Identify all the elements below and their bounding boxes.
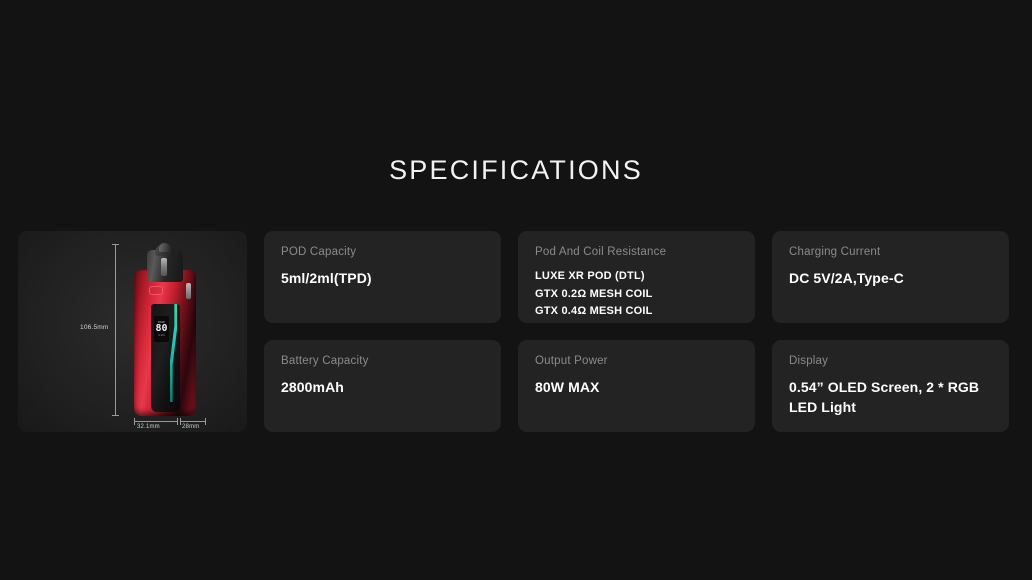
device-coil — [161, 258, 167, 276]
depth-dimension-line — [180, 421, 206, 422]
spec-value: 2800mAh — [281, 377, 484, 397]
spec-card-battery-capacity: Battery Capacity 2800mAh — [264, 340, 501, 432]
page-title: SPECIFICATIONS — [0, 155, 1032, 186]
width-dimension-label: 32.1mm — [137, 424, 160, 430]
device-illustration: 80W 80 0.2Ω 106.5mm 32.1mm 28mm — [18, 231, 247, 432]
spec-card-display: Display 0.54” OLED Screen, 2 * RGB LED L… — [772, 340, 1009, 432]
spec-card-charging-current: Charging Current DC 5V/2A,Type-C — [772, 231, 1009, 323]
screen-bottom-text: 0.2Ω — [158, 334, 164, 337]
spec-value-line-2: GTX 0.2Ω MESH COIL — [535, 286, 738, 304]
spec-label: Charging Current — [789, 246, 992, 260]
device-fire-button — [149, 286, 163, 295]
spec-value: 0.54” OLED Screen, 2 * RGB LED Light — [789, 377, 992, 418]
spec-label: Pod And Coil Resistance — [535, 246, 738, 260]
spec-value: 80W MAX — [535, 377, 738, 397]
spec-value-line-3: GTX 0.4Ω MESH COIL — [535, 303, 738, 321]
spec-value: DC 5V/2A,Type-C — [789, 268, 992, 288]
device-oled-screen: 80W 80 0.2Ω — [154, 316, 169, 342]
spec-value-line-1: LUXE XR POD (DTL) — [535, 268, 738, 286]
spec-card-pod-and-coil-resistance: Pod And Coil Resistance LUXE XR POD (DTL… — [518, 231, 755, 323]
spec-card-pod-capacity: POD Capacity 5ml/2ml(TPD) — [264, 231, 501, 323]
spec-card-output-power: Output Power 80W MAX — [518, 340, 755, 432]
height-dimension-line — [115, 244, 116, 416]
spec-label: Display — [789, 355, 992, 369]
product-image-card: 80W 80 0.2Ω 106.5mm 32.1mm 28mm — [18, 231, 247, 432]
device-mouthpiece-top — [159, 243, 170, 252]
device-graphic: 80W 80 0.2Ω — [134, 244, 196, 416]
height-dimension-label: 106.5mm — [80, 324, 109, 331]
spec-label: Output Power — [535, 355, 738, 369]
width-dimension-line — [134, 421, 178, 422]
specifications-grid: 80W 80 0.2Ω 106.5mm 32.1mm 28mm — [18, 231, 1014, 432]
spec-label: POD Capacity — [281, 246, 484, 260]
depth-dimension-label: 28mm — [182, 424, 199, 430]
specifications-page: SPECIFICATIONS 80W 80 0.2Ω — [0, 0, 1032, 580]
device-airflow-slider — [186, 283, 191, 299]
spec-value: 5ml/2ml(TPD) — [281, 268, 484, 288]
spec-label: Battery Capacity — [281, 355, 484, 369]
